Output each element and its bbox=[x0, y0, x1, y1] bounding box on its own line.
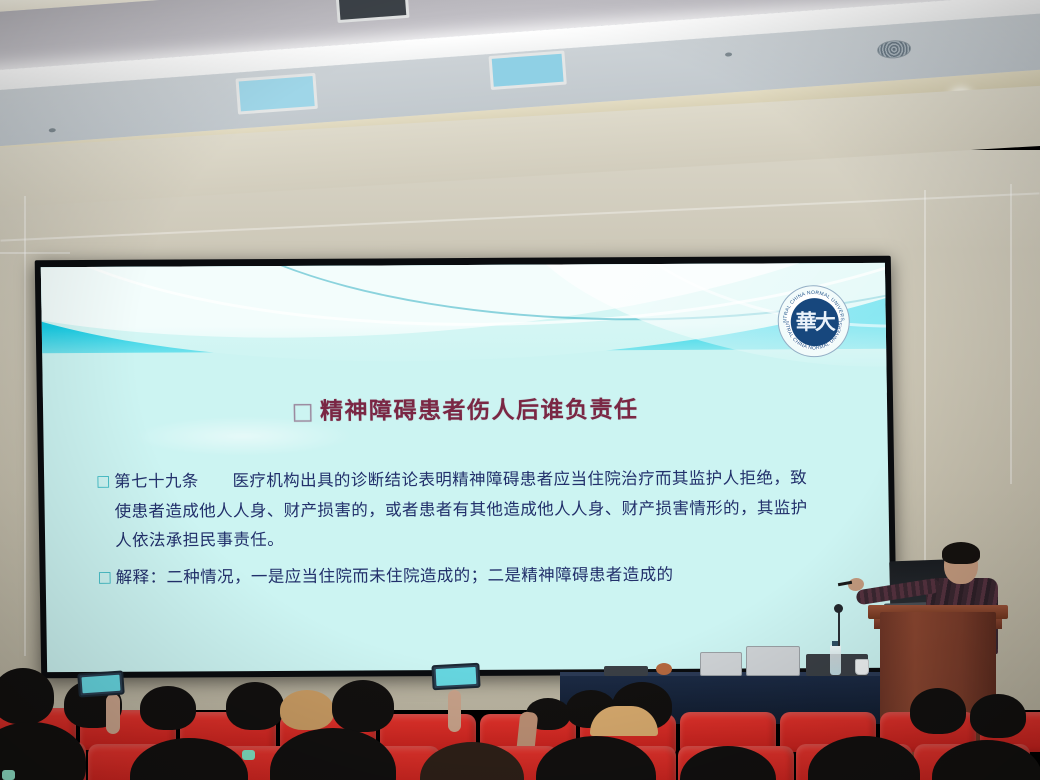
lecture-hall-scene: CENTRAL CHINA NORMAL UNIVERSITY CENTRAL … bbox=[0, 0, 1040, 780]
slide-bullet: □ 第七十九条 医疗机构出具的诊断结论表明精神障碍患者应当住院治疗而其监护人拒绝… bbox=[96, 463, 858, 496]
audience-head bbox=[970, 694, 1026, 738]
presentation-slide[interactable]: CENTRAL CHINA NORMAL UNIVERSITY CENTRAL … bbox=[41, 263, 891, 672]
slide-body: □ 第七十九条 医疗机构出具的诊断结论表明精神障碍患者应当住院治疗而其监护人拒绝… bbox=[96, 463, 860, 593]
projection-screen[interactable]: CENTRAL CHINA NORMAL UNIVERSITY CENTRAL … bbox=[35, 256, 898, 678]
raised-phone[interactable] bbox=[431, 663, 480, 690]
bullet-line: 第七十九条 医疗机构出具的诊断结论表明精神障碍患者应当住院治疗而其监护人拒绝，致 bbox=[114, 463, 807, 496]
slide-title-text: 精神障碍患者伤人后谁负责任 bbox=[320, 396, 639, 425]
screen-glare bbox=[133, 416, 354, 457]
wall-panel-seam bbox=[0, 252, 70, 254]
bullet-line: 使患者造成他人人身、财产损害的，或者患者有其他造成他人人身、财产损害情形的，其监… bbox=[114, 493, 858, 526]
hair-clip bbox=[2, 770, 15, 780]
bullet-line: 解释：二种情况，一是应当住院而未住院造成的；二是精神障碍患者造成的 bbox=[115, 560, 673, 592]
audience-head bbox=[280, 690, 334, 730]
university-seal-icon: CENTRAL CHINA NORMAL UNIVERSITY CENTRAL … bbox=[777, 285, 850, 357]
audience-head bbox=[0, 668, 54, 724]
slide-banner-fade bbox=[42, 323, 887, 397]
audience-head bbox=[226, 682, 284, 730]
audience-head bbox=[140, 686, 196, 730]
slide-bullet: □ 解释：二种情况，一是应当住院而未住院造成的；二是精神障碍患者造成的 bbox=[97, 559, 859, 592]
hvac-vent-icon bbox=[235, 73, 317, 115]
seal-chinese-mark: 華大 bbox=[796, 312, 834, 333]
bullet-marker-icon: □ bbox=[97, 563, 115, 592]
phone-screen bbox=[436, 667, 477, 686]
audience-arm bbox=[106, 694, 120, 734]
seal-center: 華大 bbox=[790, 298, 839, 346]
audience-area bbox=[0, 650, 1040, 780]
wall-panel-seam bbox=[24, 196, 26, 656]
bullet-line: 人依法承担民事责任。 bbox=[115, 522, 859, 555]
bullet-marker-icon: □ bbox=[96, 467, 114, 496]
audience-head bbox=[910, 688, 966, 734]
hvac-vent-icon bbox=[489, 51, 567, 90]
raised-phone[interactable] bbox=[77, 670, 125, 697]
wall-panel-seam bbox=[1010, 184, 1012, 484]
hair-clip bbox=[242, 750, 255, 760]
microphone-icon bbox=[834, 604, 843, 613]
microphone-stand bbox=[838, 610, 840, 646]
audience-arm bbox=[448, 690, 461, 732]
phone-screen bbox=[81, 675, 120, 694]
audience-head bbox=[332, 680, 394, 732]
speaker-hair bbox=[942, 542, 980, 564]
